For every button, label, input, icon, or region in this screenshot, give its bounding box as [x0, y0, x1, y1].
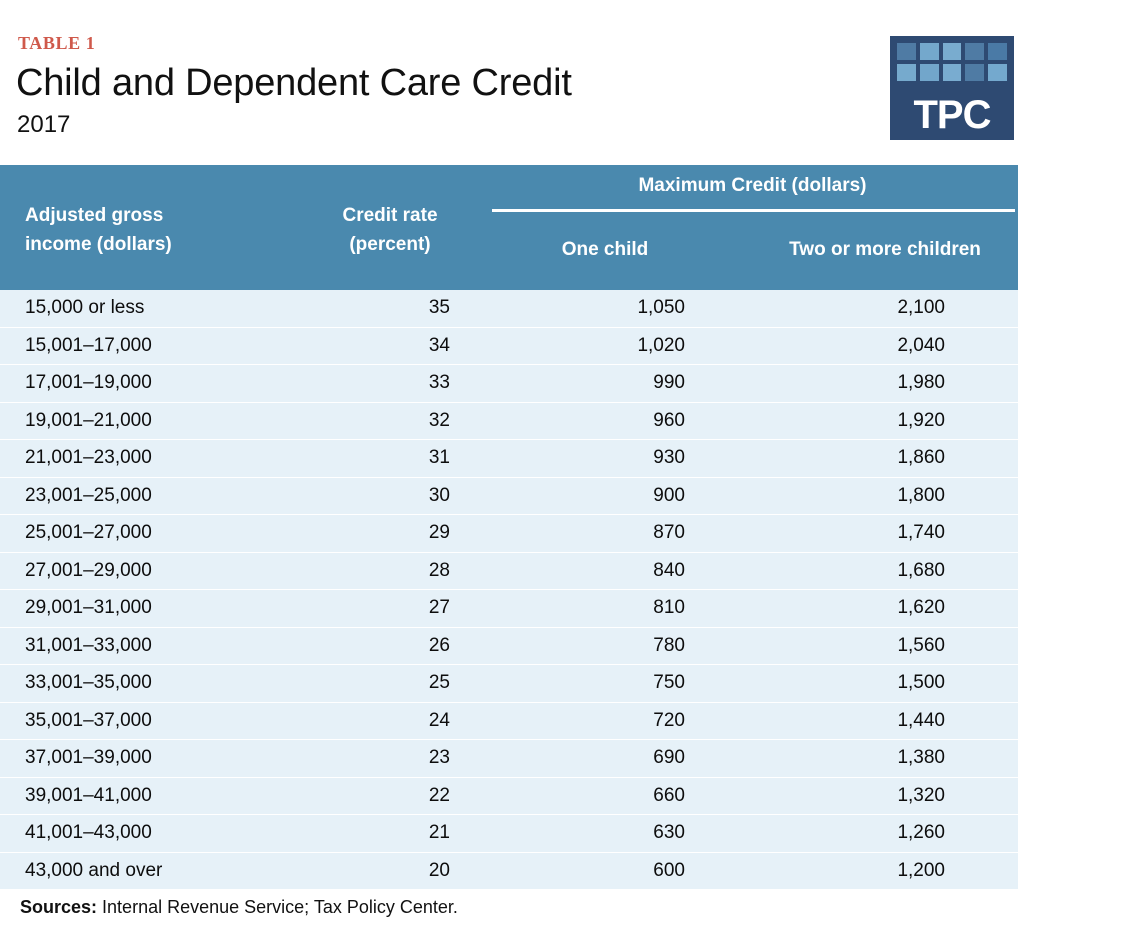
table-row: 17,001–19,000339901,980 — [0, 365, 1018, 403]
column-header-credit-rate: Credit rate (percent) — [300, 201, 480, 259]
sources-text: Internal Revenue Service; Tax Policy Cen… — [102, 897, 458, 917]
table-row: 31,001–33,000267801,560 — [0, 628, 1018, 666]
cell-max-credit-two-or-more: 1,380 — [790, 740, 945, 776]
table-row: 15,001–17,000341,0202,040 — [0, 328, 1018, 366]
table-row: 39,001–41,000226601,320 — [0, 778, 1018, 816]
cell-max-credit-two-or-more: 2,040 — [790, 328, 945, 364]
cell-adjusted-gross-income: 15,000 or less — [25, 290, 325, 326]
cell-max-credit-one-child: 720 — [530, 703, 685, 739]
column-header-one-child: One child — [500, 235, 710, 264]
cell-adjusted-gross-income: 21,001–23,000 — [25, 440, 325, 476]
cell-max-credit-two-or-more: 1,620 — [790, 590, 945, 626]
credit-table: Adjusted gross income (dollars) Credit r… — [0, 165, 1018, 890]
logo-square-icon — [897, 64, 916, 81]
cell-max-credit-one-child: 990 — [530, 365, 685, 401]
cell-max-credit-two-or-more: 1,800 — [790, 478, 945, 514]
cell-max-credit-two-or-more: 1,500 — [790, 665, 945, 701]
cell-credit-rate: 34 — [330, 328, 450, 364]
cell-credit-rate: 25 — [330, 665, 450, 701]
cell-max-credit-two-or-more: 1,440 — [790, 703, 945, 739]
column-header-agi-line1: Adjusted gross — [25, 201, 255, 230]
cell-adjusted-gross-income: 39,001–41,000 — [25, 778, 325, 814]
table-row: 15,000 or less351,0502,100 — [0, 290, 1018, 328]
page-title: Child and Dependent Care Credit — [16, 64, 572, 104]
table-row: 37,001–39,000236901,380 — [0, 740, 1018, 778]
cell-max-credit-one-child: 900 — [530, 478, 685, 514]
table-row: 23,001–25,000309001,800 — [0, 478, 1018, 516]
cell-max-credit-one-child: 750 — [530, 665, 685, 701]
cell-credit-rate: 20 — [330, 853, 450, 889]
cell-adjusted-gross-income: 31,001–33,000 — [25, 628, 325, 664]
cell-max-credit-two-or-more: 1,860 — [790, 440, 945, 476]
cell-max-credit-one-child: 810 — [530, 590, 685, 626]
column-group-header-maximum-credit: Maximum Credit (dollars) — [490, 171, 1015, 200]
cell-credit-rate: 35 — [330, 290, 450, 326]
logo-square-icon — [988, 43, 1007, 60]
table-row: 21,001–23,000319301,860 — [0, 440, 1018, 478]
table-row: 27,001–29,000288401,680 — [0, 553, 1018, 591]
table-number-label: TABLE 1 — [18, 34, 95, 52]
column-header-rate-line1: Credit rate — [300, 201, 480, 230]
cell-credit-rate: 29 — [330, 515, 450, 551]
cell-max-credit-one-child: 1,050 — [530, 290, 685, 326]
table-row: 19,001–21,000329601,920 — [0, 403, 1018, 441]
cell-max-credit-two-or-more: 1,680 — [790, 553, 945, 589]
tpc-logo: TPC — [890, 36, 1014, 140]
column-header-two-or-more-children: Two or more children — [740, 235, 1018, 264]
sources-note: Sources: Internal Revenue Service; Tax P… — [20, 895, 458, 919]
cell-credit-rate: 31 — [330, 440, 450, 476]
cell-credit-rate: 27 — [330, 590, 450, 626]
cell-max-credit-one-child: 1,020 — [530, 328, 685, 364]
cell-max-credit-two-or-more: 1,320 — [790, 778, 945, 814]
cell-max-credit-two-or-more: 1,560 — [790, 628, 945, 664]
cell-max-credit-one-child: 600 — [530, 853, 685, 889]
table-row: 33,001–35,000257501,500 — [0, 665, 1018, 703]
cell-adjusted-gross-income: 17,001–19,000 — [25, 365, 325, 401]
cell-adjusted-gross-income: 15,001–17,000 — [25, 328, 325, 364]
cell-credit-rate: 30 — [330, 478, 450, 514]
cell-adjusted-gross-income: 37,001–39,000 — [25, 740, 325, 776]
table-row: 43,000 and over206001,200 — [0, 853, 1018, 891]
column-header-adjusted-gross-income: Adjusted gross income (dollars) — [25, 201, 255, 259]
cell-adjusted-gross-income: 25,001–27,000 — [25, 515, 325, 551]
cell-adjusted-gross-income: 27,001–29,000 — [25, 553, 325, 589]
cell-max-credit-one-child: 870 — [530, 515, 685, 551]
column-header-agi-line2: income (dollars) — [25, 230, 255, 259]
logo-square-icon — [920, 64, 939, 81]
logo-square-icon — [943, 43, 962, 60]
cell-credit-rate: 24 — [330, 703, 450, 739]
table-row: 25,001–27,000298701,740 — [0, 515, 1018, 553]
cell-credit-rate: 23 — [330, 740, 450, 776]
table-row: 35,001–37,000247201,440 — [0, 703, 1018, 741]
cell-max-credit-one-child: 690 — [530, 740, 685, 776]
logo-square-icon — [943, 64, 962, 81]
column-header-rate-line2: (percent) — [300, 230, 480, 259]
cell-max-credit-one-child: 930 — [530, 440, 685, 476]
logo-square-icon — [897, 43, 916, 60]
logo-square-icon — [965, 43, 984, 60]
logo-square-icon — [920, 43, 939, 60]
cell-max-credit-two-or-more: 1,920 — [790, 403, 945, 439]
cell-adjusted-gross-income: 23,001–25,000 — [25, 478, 325, 514]
cell-max-credit-one-child: 840 — [530, 553, 685, 589]
cell-adjusted-gross-income: 43,000 and over — [25, 853, 325, 889]
cell-adjusted-gross-income: 29,001–31,000 — [25, 590, 325, 626]
cell-max-credit-two-or-more: 1,200 — [790, 853, 945, 889]
cell-credit-rate: 22 — [330, 778, 450, 814]
cell-max-credit-one-child: 660 — [530, 778, 685, 814]
cell-max-credit-two-or-more: 1,980 — [790, 365, 945, 401]
cell-adjusted-gross-income: 35,001–37,000 — [25, 703, 325, 739]
cell-credit-rate: 26 — [330, 628, 450, 664]
cell-adjusted-gross-income: 41,001–43,000 — [25, 815, 325, 851]
cell-credit-rate: 21 — [330, 815, 450, 851]
table-header-row: Adjusted gross income (dollars) Credit r… — [0, 165, 1018, 290]
cell-max-credit-two-or-more: 1,260 — [790, 815, 945, 851]
page-subtitle-year: 2017 — [17, 112, 70, 138]
table-row: 29,001–31,000278101,620 — [0, 590, 1018, 628]
cell-max-credit-two-or-more: 1,740 — [790, 515, 945, 551]
cell-adjusted-gross-income: 33,001–35,000 — [25, 665, 325, 701]
cell-max-credit-one-child: 960 — [530, 403, 685, 439]
cell-credit-rate: 33 — [330, 365, 450, 401]
sources-label: Sources: — [20, 897, 97, 917]
cell-max-credit-one-child: 780 — [530, 628, 685, 664]
logo-square-icon — [965, 64, 984, 81]
cell-adjusted-gross-income: 19,001–21,000 — [25, 403, 325, 439]
table-row: 41,001–43,000216301,260 — [0, 815, 1018, 853]
cell-credit-rate: 32 — [330, 403, 450, 439]
cell-max-credit-two-or-more: 2,100 — [790, 290, 945, 326]
cell-max-credit-one-child: 630 — [530, 815, 685, 851]
column-group-divider-rule — [492, 209, 1015, 212]
cell-credit-rate: 28 — [330, 553, 450, 589]
table-body: 15,000 or less351,0502,10015,001–17,0003… — [0, 290, 1018, 890]
tpc-wordmark: TPC — [890, 94, 1014, 136]
logo-square-grid — [897, 43, 1007, 81]
logo-square-icon — [988, 64, 1007, 81]
document-header: TABLE 1 Child and Dependent Care Credit … — [0, 0, 1127, 165]
